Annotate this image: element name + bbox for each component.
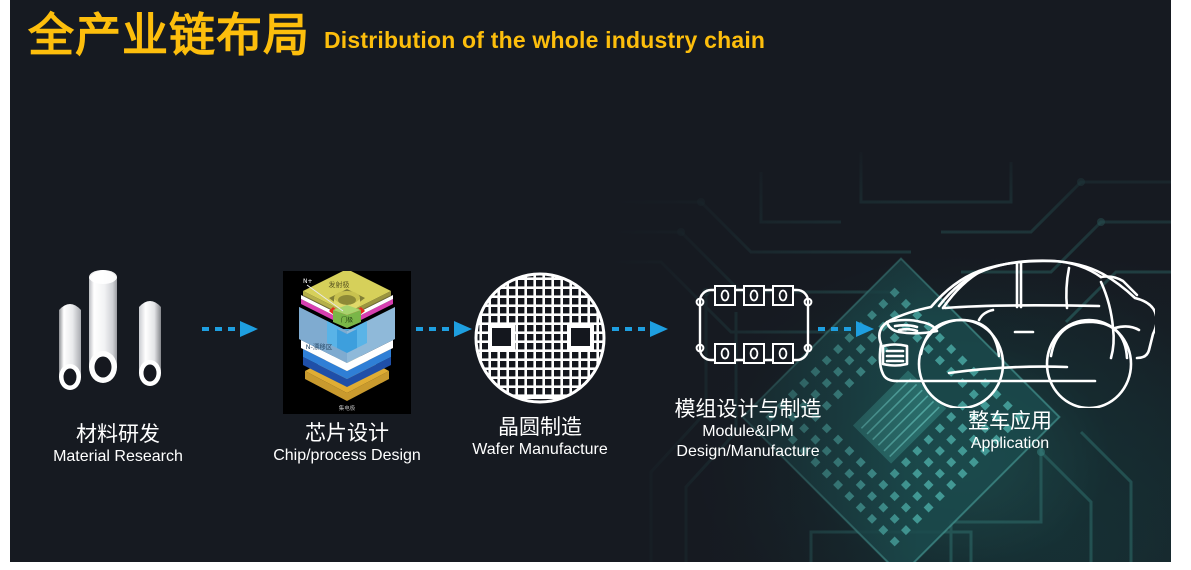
page-title: 全产业链布局 Distribution of the whole industr… (28, 12, 765, 58)
stage-chip-design[interactable]: N+ 发射极 门极 N-漂移区 集电极 芯片设计 Chip/process De… (262, 271, 432, 466)
stage-label-en: Wafer Manufacture (460, 440, 620, 460)
title-english: Distribution of the whole industry chain (324, 29, 765, 52)
stage-vehicle-application[interactable]: 整车应用 Application (860, 248, 1160, 454)
stage-wafer-manufacture[interactable]: 晶圆制造 Wafer Manufacture (460, 270, 620, 460)
stage-label-en-line2: Design/Manufacture (648, 442, 848, 462)
stage-label-cn: 模组设计与制造 (648, 396, 848, 422)
stage-caption: 晶圆制造 Wafer Manufacture (460, 414, 620, 460)
stage-label-cn: 芯片设计 (262, 420, 432, 446)
power-module-icon (688, 282, 808, 368)
stage-label-cn: 晶圆制造 (460, 414, 620, 440)
stage-label-cn: 整车应用 (860, 408, 1160, 434)
svg-text:N-漂移区: N-漂移区 (306, 342, 333, 351)
dashed-arrow-right-icon (200, 318, 262, 340)
three-tubes-icon (43, 255, 193, 415)
stage-label-cn: 材料研发 (20, 421, 216, 447)
stage-module-design[interactable]: 模组设计与制造 Module&IPM Design/Manufacture (648, 282, 848, 461)
svg-text:集电极: 集电极 (339, 404, 356, 412)
wafer-icon (472, 270, 608, 408)
stage-label-en: Material Research (20, 447, 216, 467)
stage-label-en: Module&IPM (648, 422, 848, 442)
stage-caption: 芯片设计 Chip/process Design (262, 420, 432, 466)
stage-caption: 模组设计与制造 Module&IPM Design/Manufacture (648, 396, 848, 461)
svg-text:N+: N+ (303, 278, 313, 285)
stage-caption: 材料研发 Material Research (20, 421, 216, 467)
svg-text:发射极: 发射极 (329, 280, 350, 289)
title-chinese: 全产业链布局 (28, 12, 310, 58)
suv-outline-icon (865, 248, 1155, 408)
igbt-cross-section-icon: N+ 发射极 门极 N-漂移区 集电极 (283, 271, 411, 414)
slide-canvas: 全产业链布局 Distribution of the whole industr… (10, 0, 1171, 562)
stage-label-en: Chip/process Design (262, 446, 432, 466)
stage-material-research[interactable]: 材料研发 Material Research (20, 255, 216, 467)
stage-label-en: Application (860, 434, 1160, 454)
svg-text:门极: 门极 (341, 316, 353, 324)
stage-caption: 整车应用 Application (860, 408, 1160, 454)
